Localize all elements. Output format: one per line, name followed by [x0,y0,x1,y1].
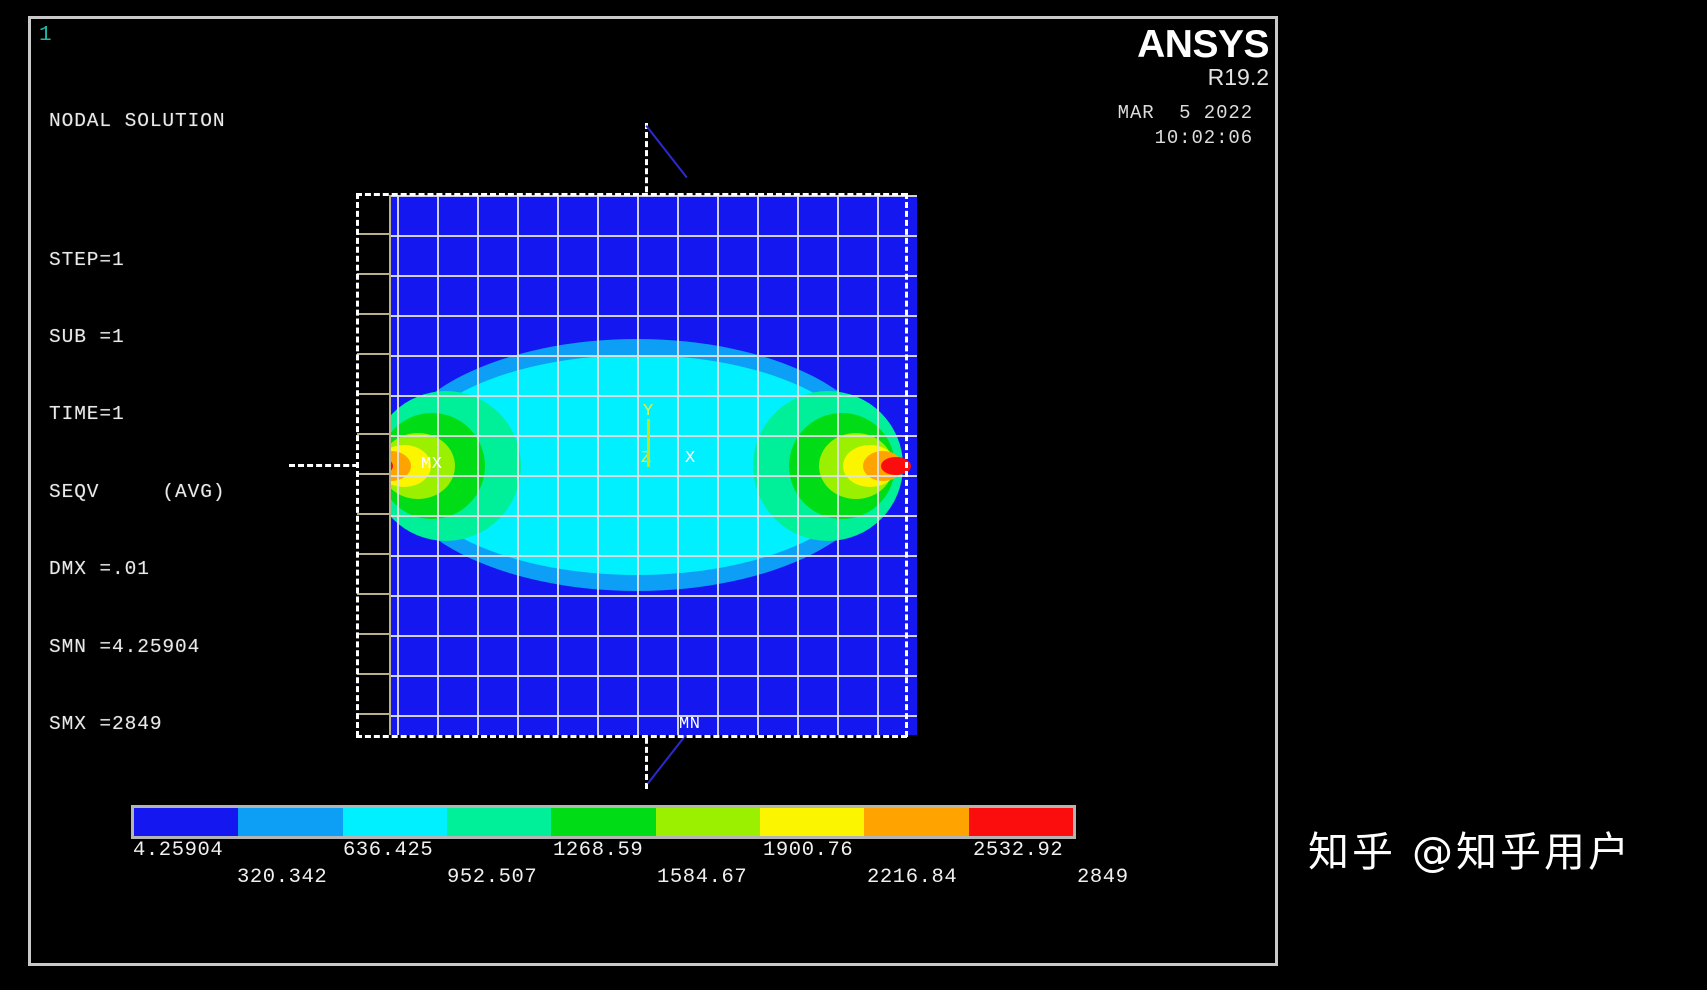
stamp-date: MAR 5 2022 [1118,102,1253,124]
legend-tick-value: 1900.76 [763,839,853,862]
model-edge-top [356,193,907,196]
model-edge-left [356,193,359,737]
ansys-brand-text: ANSYS [1137,25,1269,65]
info-seqv: SEQV (AVG) [49,480,225,506]
ansys-logo: ANSYS R19.2 [1137,25,1269,89]
info-smx: SMX =2849 [49,712,225,738]
legend-tick-value: 636.425 [343,839,433,862]
legend-swatch-7 [760,808,864,836]
legend-swatch-9 [969,808,1073,836]
info-step: STEP=1 [49,248,225,274]
solution-title: NODAL SOLUTION [49,109,225,135]
model-edge-right [905,193,908,737]
max-stress-marker: MX [421,455,442,474]
header-spacer [49,186,225,196]
boundary-line-upper [645,125,687,178]
legend-tick-value: 2216.84 [867,866,957,889]
date-time-stamp: MAR 5 2022 10:02:06 [1118,101,1253,151]
legend-swatch-2 [238,808,342,836]
legend-tick-value: 320.342 [237,866,327,889]
legend-swatch-1 [134,808,238,836]
boundary-line-lower [647,731,689,784]
contour-color-legend[interactable]: 4.25904 636.425 1268.59 1900.76 2532.92 … [131,805,1076,893]
axis-label-x: X [685,449,695,468]
info-dmx: DMX =.01 [49,557,225,583]
legend-tick-value: 2532.92 [973,839,1063,862]
legend-swatch-8 [864,808,968,836]
legend-swatch-4 [447,808,551,836]
ansys-graphics-window: 1 NODAL SOLUTION STEP=1 SUB =1 TIME=1 SE… [28,16,1278,966]
legend-tick-value: 1268.59 [553,839,643,862]
legend-tick-row-lower: 320.342 952.507 1584.67 2216.84 2849 [131,866,1076,893]
info-sub: SUB =1 [49,325,225,351]
min-stress-marker: MN [679,715,700,734]
ansys-release-text: R19.2 [1137,65,1269,89]
stamp-time: 10:02:06 [1155,127,1253,149]
legend-tick-value: 4.25904 [133,839,223,862]
legend-color-bar [131,805,1076,839]
legend-tick-value: 952.507 [447,866,537,889]
legend-tick-row-upper: 4.25904 636.425 1268.59 1900.76 2532.92 [131,839,1076,866]
axis-triad-stem [647,419,650,467]
legend-swatch-5 [551,808,655,836]
model-viewport[interactable]: MX MN Y Z X [261,119,1001,809]
info-time: TIME=1 [49,402,225,428]
screenshot-root: 1 NODAL SOLUTION STEP=1 SUB =1 TIME=1 SE… [0,0,1707,990]
info-smn: SMN =4.25904 [49,635,225,661]
legend-tick-value: 2849 [1077,866,1129,889]
legend-swatch-3 [343,808,447,836]
watermark: 知乎 @知乎用户 [1308,818,1632,878]
legend-swatch-6 [656,808,760,836]
model-edge-bottom [356,735,907,738]
solution-info-block: NODAL SOLUTION STEP=1 SUB =1 TIME=1 SEQV… [49,57,225,789]
window-number: 1 [39,25,52,46]
unmeshed-left-strip [357,195,391,735]
legend-tick-value: 1584.67 [657,866,747,889]
